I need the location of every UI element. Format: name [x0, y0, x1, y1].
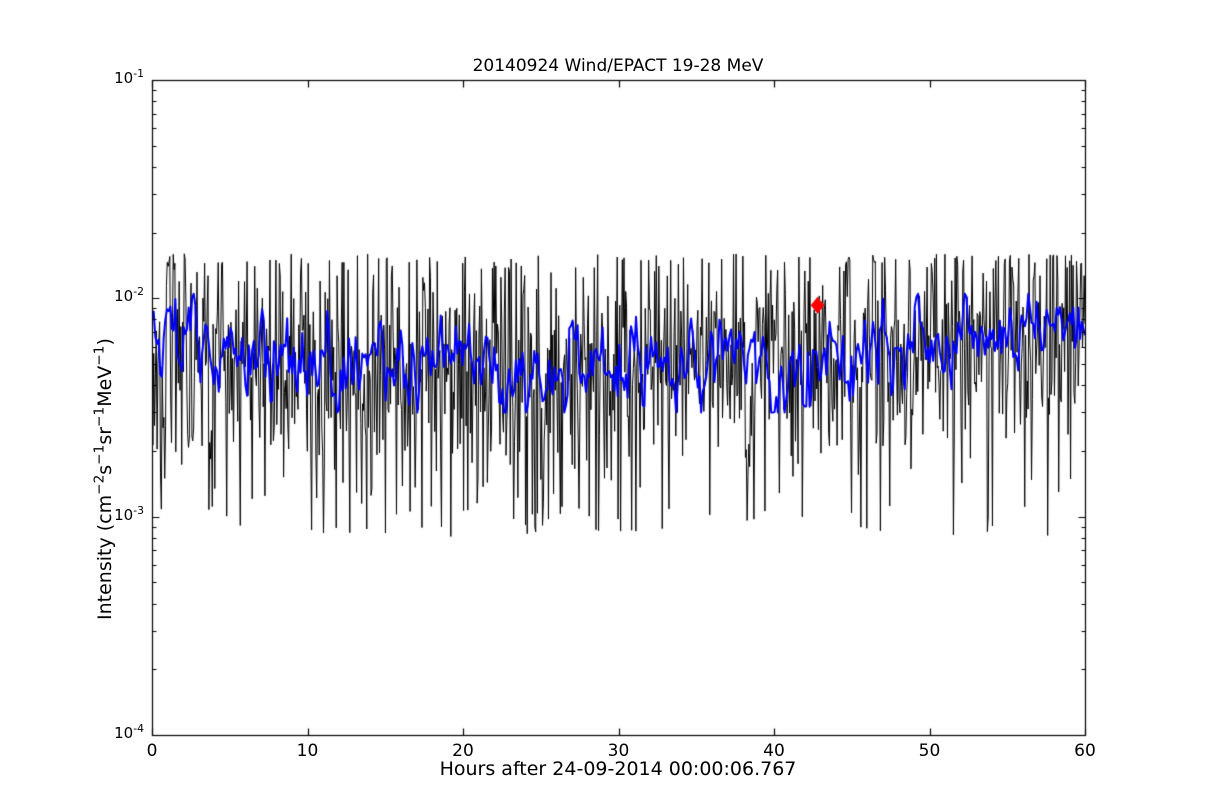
- ylabel-mid-2: sr: [94, 427, 116, 445]
- x-axis-label: Hours after 24-09-2014 00:00:06.767: [12, 760, 1212, 779]
- y-tick-exponent: -2: [133, 285, 144, 298]
- y-tick-mantissa: 10: [114, 506, 133, 524]
- ylabel-mid-1: s: [94, 465, 116, 475]
- ylabel-exp-1: −2: [92, 475, 108, 495]
- y-tick-label: 10-2: [100, 289, 144, 304]
- y-tick-mantissa: 10: [114, 724, 133, 742]
- y-tick-label: 10-1: [100, 71, 144, 86]
- ylabel-exp-4: −1: [92, 346, 108, 366]
- plot-canvas: [0, 0, 1212, 812]
- y-tick-mantissa: 10: [114, 287, 133, 305]
- ylabel-suffix: ): [94, 338, 116, 345]
- y-tick-mantissa: 10: [114, 69, 133, 87]
- x-tick-label: 20: [433, 743, 493, 760]
- x-tick-label: 50: [900, 743, 960, 760]
- y-tick-label: 10-3: [100, 508, 144, 523]
- y-tick-exponent: -4: [133, 722, 144, 735]
- y-tick-exponent: -3: [133, 504, 144, 517]
- y-tick-label: 10-4: [100, 726, 144, 741]
- y-tick-exponent: -1: [133, 67, 144, 80]
- ylabel-exp-2: −1: [92, 445, 108, 465]
- x-tick-label: 0: [122, 743, 182, 760]
- x-tick-label: 40: [744, 743, 804, 760]
- x-tick-label: 60: [1055, 743, 1115, 760]
- y-axis-label: Intensity (cm−2s−1sr−1MeV−1): [96, 338, 115, 620]
- x-tick-label: 30: [589, 743, 649, 760]
- chart-title: 20140924 Wind/EPACT 19-28 MeV: [12, 58, 1212, 75]
- ylabel-mid-3: MeV: [94, 366, 116, 407]
- x-tick-label: 10: [278, 743, 338, 760]
- figure: 20140924 Wind/EPACT 19-28 MeV Hours afte…: [0, 0, 1212, 812]
- ylabel-exp-3: −1: [92, 407, 108, 427]
